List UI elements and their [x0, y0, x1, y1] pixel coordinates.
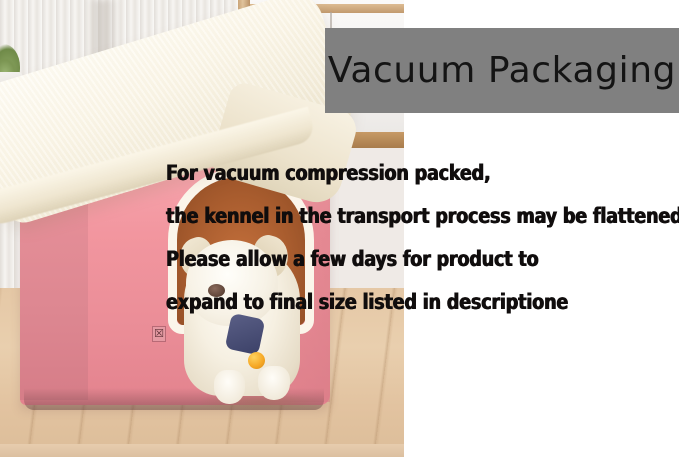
product-infographic-page: ☒ Vacuum Packaging For vacuum compressio… — [0, 0, 679, 457]
care-label-icon: ☒ — [152, 326, 166, 342]
dog-collar-bell — [248, 352, 265, 369]
notice-line-2: the kennel in the transport process may … — [166, 195, 679, 238]
packaging-notice-text: For vacuum compression packed, the kenne… — [166, 152, 679, 324]
notice-line-3: Please allow a few days for product to — [166, 238, 679, 281]
dog-paw-right — [258, 366, 290, 400]
notice-line-4: expand to final size listed in descripti… — [166, 281, 679, 324]
banner-title: Vacuum Packaging — [328, 50, 676, 91]
floor-front-plank — [0, 444, 404, 457]
notice-line-1: For vacuum compression packed, — [166, 152, 679, 195]
vacuum-packaging-banner: Vacuum Packaging — [325, 28, 679, 113]
dog-paw-left — [214, 370, 245, 404]
